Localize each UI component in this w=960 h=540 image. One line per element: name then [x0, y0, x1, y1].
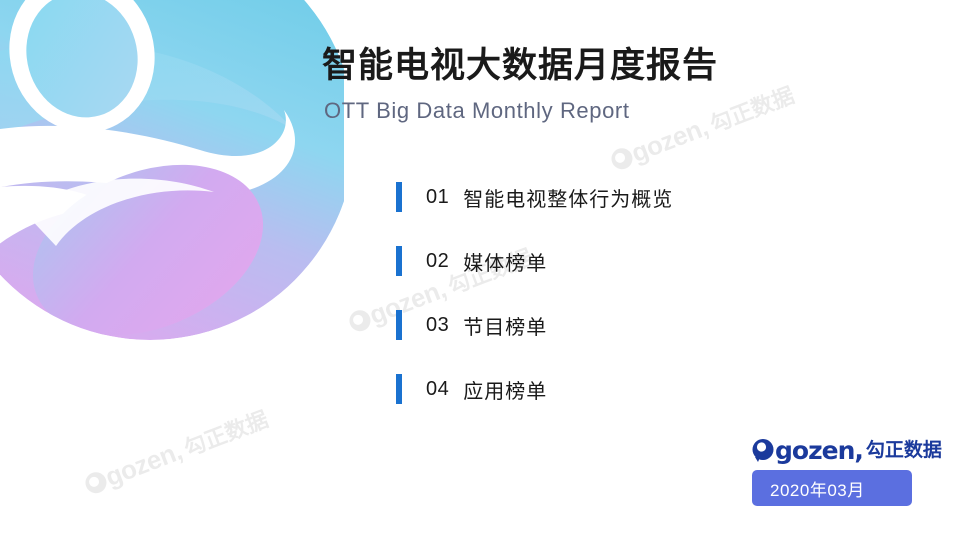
page-title: 智能电视大数据月度报告	[322, 44, 718, 88]
agenda-list: 01 智能电视整体行为概览 02 媒体榜单 03 节目榜单 04 应用榜单	[396, 182, 673, 438]
watermark-cn: 勾正数据	[179, 402, 273, 463]
watermark-logo-icon	[346, 307, 373, 334]
watermark-logo-icon	[608, 145, 635, 172]
watermark-cn: 勾正数据	[705, 78, 799, 139]
logo-chinese-name: 勾正数据	[866, 438, 942, 463]
logo-wordmark: gozen,	[775, 438, 863, 463]
slide-canvas: gozen, 勾正数据 gozen, 勾正数据 gozen, 勾正数据 智能电视…	[0, 0, 960, 540]
accent-bar-icon	[396, 374, 402, 404]
accent-bar-icon	[396, 182, 402, 212]
agenda-item-01[interactable]: 01 智能电视整体行为概览	[396, 182, 673, 212]
title-block: 智能电视大数据月度报告 OTT Big Data Monthly Report	[322, 44, 718, 124]
decorative-gradient-mark	[0, 0, 344, 360]
agenda-item-04[interactable]: 04 应用榜单	[396, 374, 673, 404]
date-badge: 2020年03月	[752, 470, 912, 506]
agenda-item-number: 04	[426, 378, 449, 401]
page-subtitle: OTT Big Data Monthly Report	[324, 98, 718, 124]
accent-bar-icon	[396, 246, 402, 276]
brand-logo: gozen, 勾正数据	[752, 437, 942, 463]
gozen-logo-icon	[752, 437, 774, 463]
agenda-item-number: 03	[426, 314, 449, 337]
watermark-logo-icon	[82, 469, 109, 496]
agenda-item-label: 应用榜单	[463, 375, 547, 404]
agenda-item-02[interactable]: 02 媒体榜单	[396, 246, 673, 276]
agenda-item-label: 媒体榜单	[463, 247, 547, 276]
accent-bar-icon	[396, 310, 402, 340]
agenda-item-number: 02	[426, 250, 449, 273]
agenda-item-03[interactable]: 03 节目榜单	[396, 310, 673, 340]
agenda-item-number: 01	[426, 186, 449, 209]
agenda-item-label: 智能电视整体行为概览	[463, 183, 673, 212]
agenda-item-label: 节目榜单	[463, 311, 547, 340]
watermark-word: gozen,	[101, 435, 186, 492]
date-badge-label: 2020年03月	[770, 476, 865, 501]
